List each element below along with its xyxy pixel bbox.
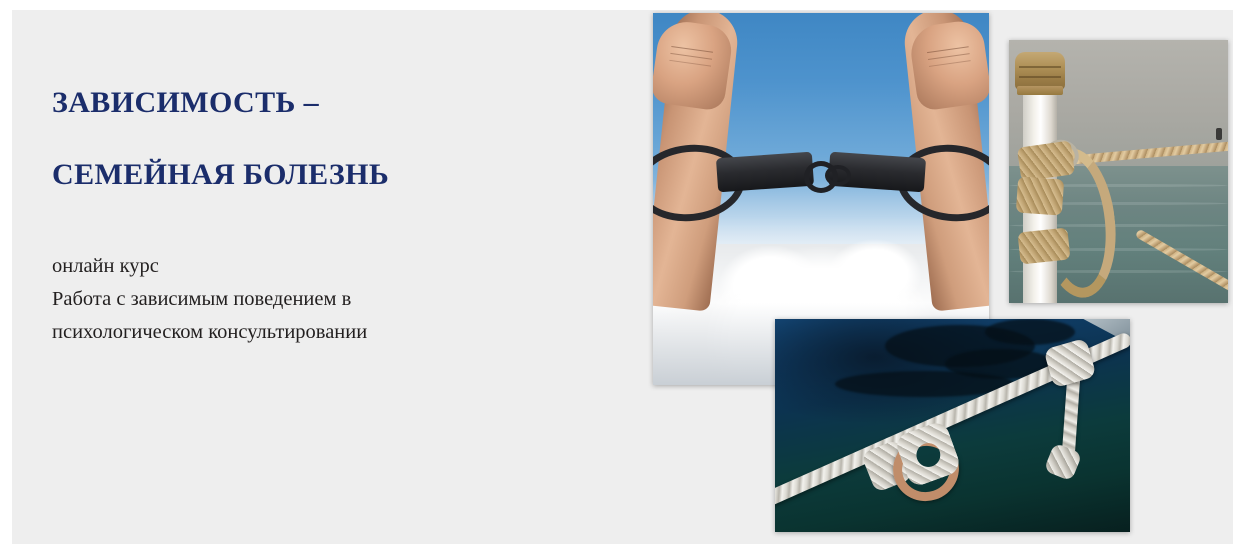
water-reflection: [985, 319, 1075, 345]
wooden-post-cap: [1015, 52, 1065, 90]
knuckle-lines: [927, 46, 969, 53]
knuckle-lines: [671, 46, 713, 53]
slide-text-column: ЗАВИСИМОСТЬ – СЕМЕЙНАЯ БОЛЕЗНЬ онлайн ку…: [52, 88, 612, 350]
mooring-post-rope-photo: [1009, 40, 1228, 303]
page-title-line-2: СЕМЕЙНАЯ БОЛЕЗНЬ: [52, 160, 612, 190]
subtitle-line-2: Работа с зависимым поведением в: [52, 283, 612, 316]
knotted-rope-ring-photo: [775, 319, 1130, 532]
right-fist: [908, 18, 989, 111]
handcuff-chain: [798, 161, 844, 181]
rope-knot: [1017, 227, 1070, 264]
post-collar: [1017, 86, 1063, 95]
cap-groove: [1019, 66, 1061, 68]
distant-mast: [1216, 128, 1222, 140]
slide-canvas: ЗАВИСИМОСТЬ – СЕМЕЙНАЯ БОЛЕЗНЬ онлайн ку…: [12, 10, 1233, 544]
subtitle-block: онлайн курс Работа с зависимым поведение…: [52, 250, 612, 350]
rope-knot: [1016, 176, 1064, 215]
subtitle-line-3: психологическом консультировании: [52, 316, 612, 349]
left-fist: [653, 18, 734, 111]
chain-link-icon: [825, 165, 851, 186]
cap-groove: [1019, 76, 1061, 78]
subtitle-line-1: онлайн курс: [52, 250, 612, 283]
page-title-line-1: ЗАВИСИМОСТЬ –: [52, 88, 612, 118]
